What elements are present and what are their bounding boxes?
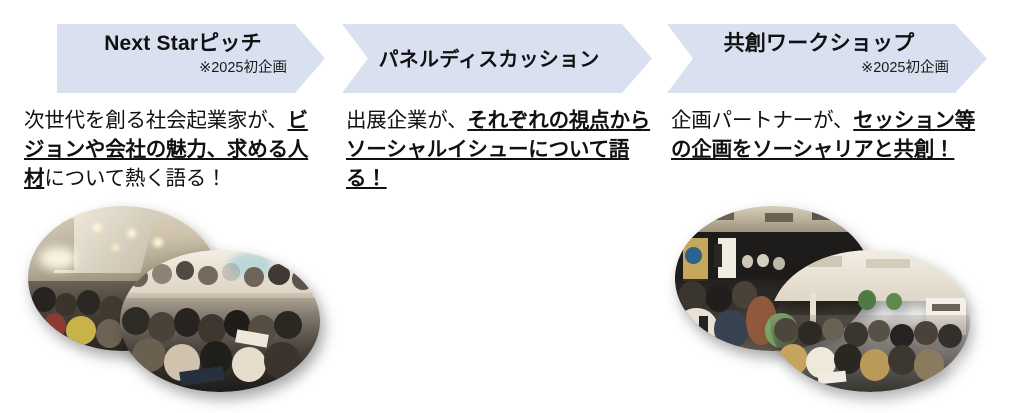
banner-note: ※2025初企画: [75, 58, 291, 78]
banner-note: ※2025初企画: [685, 58, 953, 78]
description-tail: について熱く語る！: [44, 167, 226, 190]
banner-title: 共創ワークショップ: [685, 30, 953, 58]
description-co-creation-workshop: 企画パートナーが、セッション等の企画をソーシャリアと共創！: [671, 106, 991, 164]
seated-attendees-clapping-photo: [120, 250, 320, 392]
column-next-star-pitch: Next Starピッチ ※2025初企画 次世代を創る社会起業家が、ビジョンや…: [0, 0, 340, 413]
banner-co-creation-workshop: 共創ワークショップ ※2025初企画: [667, 24, 987, 93]
bright-seminar-room-photo: [770, 250, 970, 392]
banner-panel-discussion: パネルディスカッション: [342, 24, 652, 93]
description-lead: 企画パートナーが、: [671, 109, 853, 132]
slide-canvas: Next Starピッチ ※2025初企画 次世代を創る社会起業家が、ビジョンや…: [0, 0, 1024, 413]
banner-next-star-pitch: Next Starピッチ ※2025初企画: [57, 24, 325, 93]
description-panel-discussion: 出展企業が、それぞれの視点からソーシャルイシューについて語る！: [346, 106, 656, 193]
description-lead: 出展企業が、: [346, 109, 467, 132]
description-next-star-pitch: 次世代を創る社会起業家が、ビジョンや会社の魅力、求める人材について熱く語る！: [24, 106, 324, 193]
banner-title: パネルディスカッション: [360, 30, 618, 90]
banner-title: Next Starピッチ: [75, 30, 291, 58]
description-lead: 次世代を創る社会起業家が、: [24, 109, 288, 132]
column-panel-discussion: パネルディスカッション 出展企業が、それぞれの視点からソーシャルイシューについて…: [330, 0, 670, 413]
